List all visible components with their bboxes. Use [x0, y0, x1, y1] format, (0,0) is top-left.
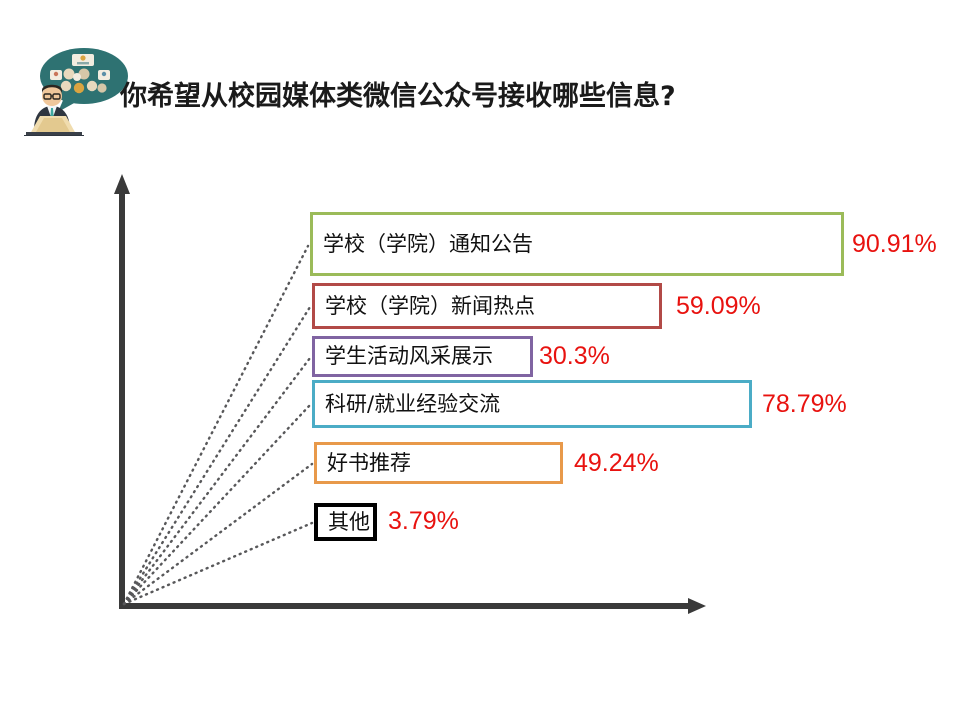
- slide-canvas: 你希望从校园媒体类微信公众号接收哪些信息? 学校（学院）通知公: [0, 0, 960, 720]
- bar-label: 学校（学院）新闻热点: [315, 296, 535, 317]
- bar-value-label: 30.3%: [539, 344, 610, 369]
- bar-label: 学生活动风采展示: [315, 346, 493, 367]
- bar-label: 其他: [318, 512, 370, 533]
- bar-row[interactable]: 其他: [314, 503, 377, 541]
- bar-row[interactable]: 科研/就业经验交流: [312, 380, 752, 428]
- bar-value-label: 49.24%: [574, 451, 659, 476]
- bar-value-label: 3.79%: [388, 509, 459, 534]
- bar-row[interactable]: 好书推荐: [314, 442, 563, 484]
- horizontal-bar-chart: 学校（学院）通知公告 90.91% 学校（学院）新闻热点 59.09% 学生活动…: [0, 0, 960, 720]
- bar-row[interactable]: 学校（学院）新闻热点: [312, 283, 662, 329]
- bar-label: 好书推荐: [317, 453, 411, 474]
- bar-row[interactable]: 学校（学院）通知公告: [310, 212, 844, 276]
- bar-value-label: 59.09%: [676, 294, 761, 319]
- bar-label: 科研/就业经验交流: [315, 394, 500, 415]
- bar-row[interactable]: 学生活动风采展示: [312, 336, 533, 377]
- bar-value-label: 90.91%: [852, 232, 937, 257]
- bar-label: 学校（学院）通知公告: [313, 234, 533, 255]
- bar-value-label: 78.79%: [762, 392, 847, 417]
